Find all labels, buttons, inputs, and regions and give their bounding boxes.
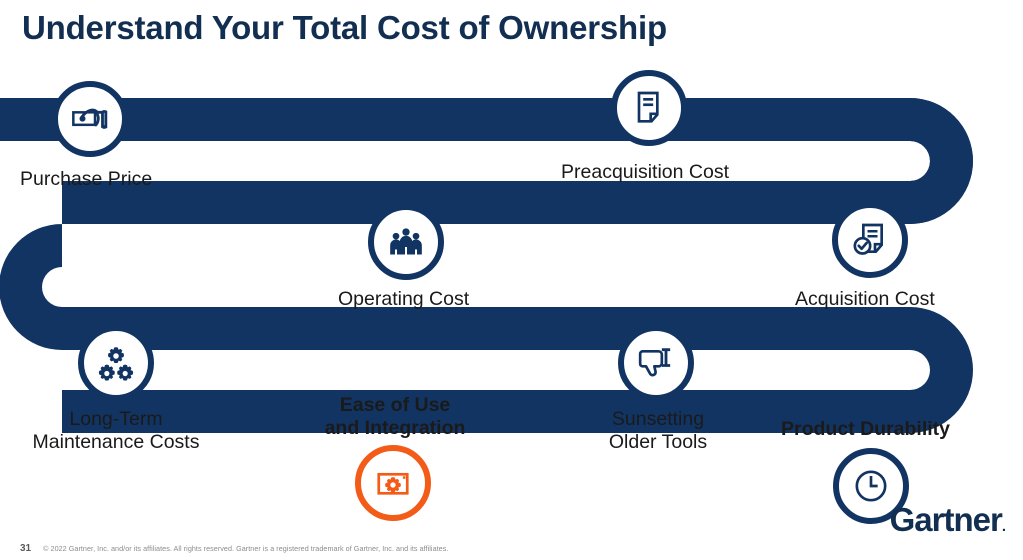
label-acquisition-cost: Acquisition Cost — [795, 288, 935, 311]
money-hand-icon — [70, 99, 110, 139]
label-ease-of-use-and-integration: Ease of Use and Integration — [300, 394, 490, 440]
clock-icon — [851, 466, 891, 506]
gartner-logo: Gartner. — [890, 503, 1005, 544]
gartner-logo-text: Gartner — [890, 501, 1002, 538]
page-number: 31 — [20, 543, 31, 554]
label-operating-cost: Operating Cost — [338, 288, 469, 311]
node-sunsetting-older-tools[interactable] — [618, 325, 694, 401]
document-check-icon — [850, 220, 890, 260]
gears-icon — [96, 343, 136, 383]
label-preacquisition-cost: Preacquisition Cost — [561, 161, 729, 184]
node-preacquisition-cost[interactable] — [611, 70, 687, 146]
node-purchase-price[interactable] — [52, 81, 128, 157]
document-icon — [629, 88, 669, 128]
node-acquisition-cost[interactable] — [832, 202, 908, 278]
copyright-notice: © 2022 Gartner, Inc. and/or its affiliat… — [43, 544, 448, 553]
thumbs-down-icon — [636, 343, 676, 383]
gartner-logo-trademark: . — [1002, 518, 1005, 535]
footer: 31 © 2022 Gartner, Inc. and/or its affil… — [20, 543, 448, 554]
screen-gear-icon — [374, 464, 412, 502]
node-ease-of-use-and-integration[interactable] — [355, 445, 431, 521]
node-long-term-maintenance-costs[interactable] — [78, 325, 154, 401]
people-group-icon — [386, 222, 426, 262]
label-purchase-price: Purchase Price — [20, 168, 152, 191]
label-sunsetting-older-tools: Sunsetting Older Tools — [570, 408, 746, 454]
label-long-term-maintenance-costs: Long-Term Maintenance Costs — [16, 408, 216, 454]
node-operating-cost[interactable] — [368, 204, 444, 280]
label-product-durability: Product Durability — [781, 418, 950, 441]
slide-canvas: Understand Your Total Cost of Ownership — [0, 0, 1023, 560]
